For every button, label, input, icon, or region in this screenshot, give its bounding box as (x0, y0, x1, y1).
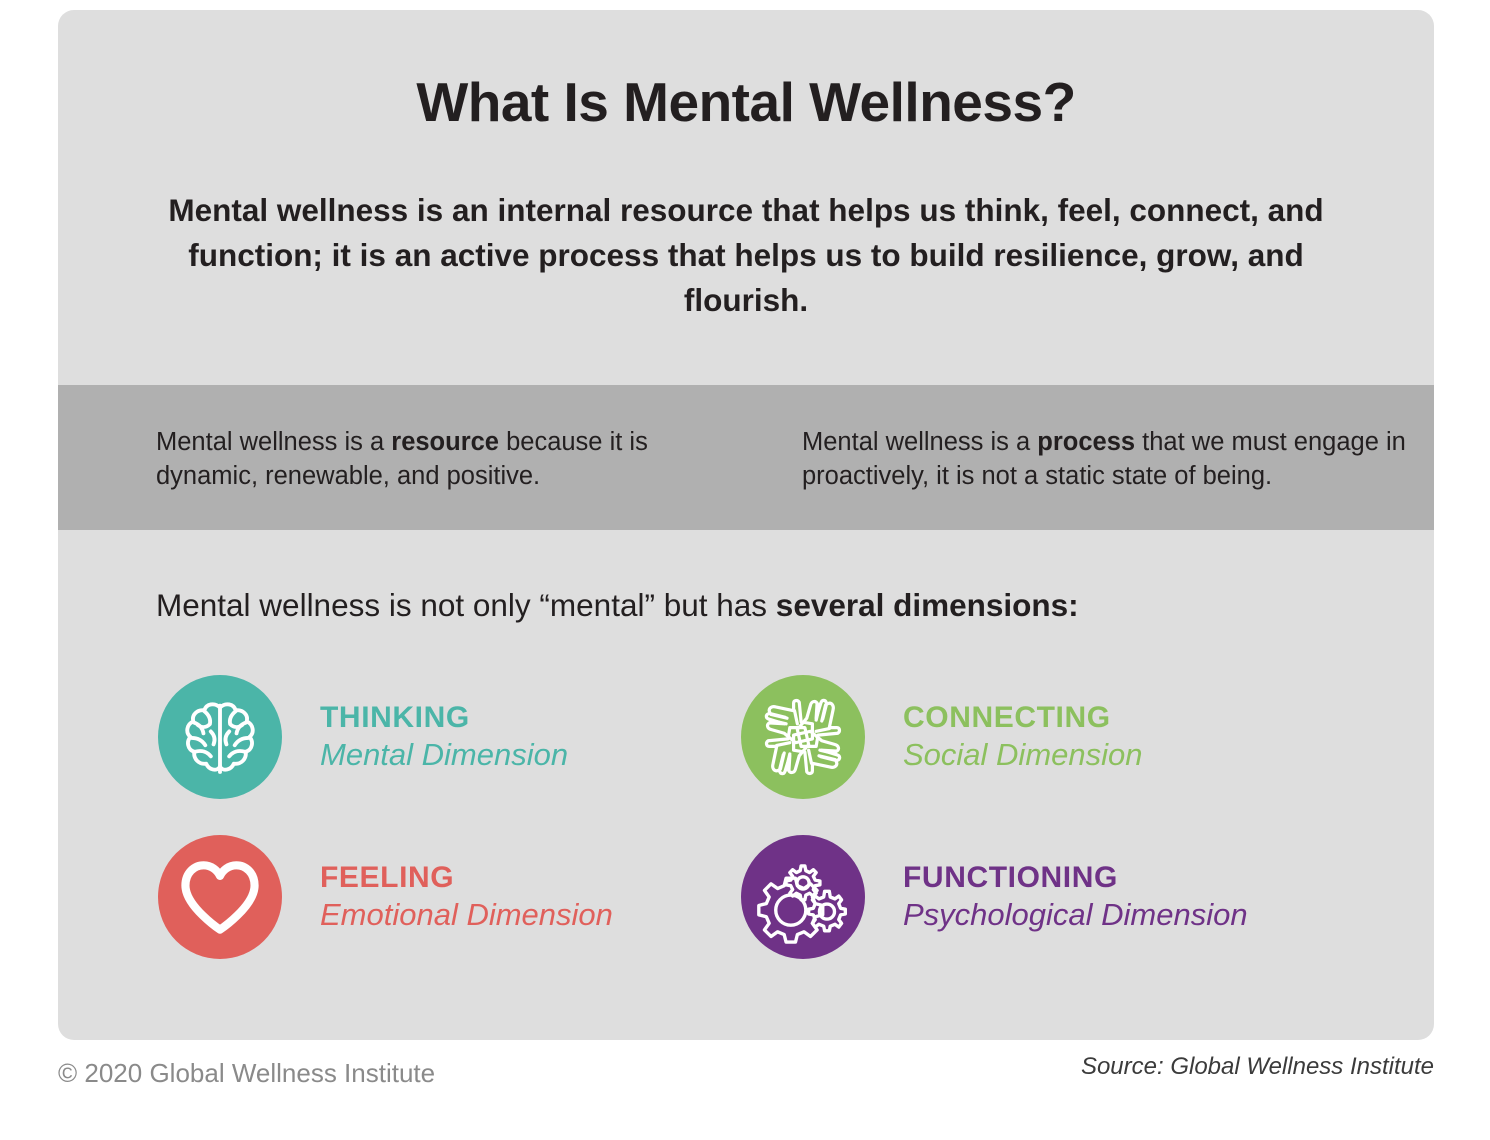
infographic-card: What Is Mental Wellness? Mental wellness… (58, 10, 1434, 1040)
dimension-thinking-subtitle: Mental Dimension (320, 739, 568, 772)
dimension-feeling-subtitle: Emotional Dimension (320, 899, 613, 932)
dimensions-heading-strong: several dimensions: (776, 587, 1079, 623)
dimension-thinking-text: THINKING Mental Dimension (320, 702, 568, 773)
brain-icon-circle (158, 675, 282, 799)
definition-band: Mental wellness is a resource because it… (58, 385, 1434, 530)
dimensions-heading: Mental wellness is not only “mental” but… (156, 587, 1079, 624)
resource-text-pre: Mental wellness is a (156, 428, 391, 456)
brain-icon (174, 691, 266, 783)
dimensions-row-2: FEELING Emotional Dimension (158, 835, 1418, 959)
dimension-connecting-label: CONNECTING (903, 702, 1143, 734)
dimension-thinking: THINKING Mental Dimension (158, 675, 741, 799)
dimension-feeling-label: FEELING (320, 862, 613, 894)
dimension-functioning: FUNCTIONING Psychological Dimension (741, 835, 1361, 959)
resource-keyword: resource (391, 428, 499, 456)
dimension-connecting-subtitle: Social Dimension (903, 739, 1143, 772)
dimension-feeling-text: FEELING Emotional Dimension (320, 862, 613, 933)
dimension-functioning-subtitle: Psychological Dimension (903, 899, 1248, 932)
heart-icon-circle (158, 835, 282, 959)
page-title: What Is Mental Wellness? (58, 70, 1434, 134)
definition-process: Mental wellness is a process that we mus… (750, 385, 1434, 530)
copyright-text: © 2020 Global Wellness Institute (58, 1058, 435, 1089)
four-hands-icon-circle (741, 675, 865, 799)
dimensions-grid: THINKING Mental Dimension (158, 675, 1418, 959)
definition-resource: Mental wellness is a resource because it… (58, 385, 750, 530)
dimension-feeling: FEELING Emotional Dimension (158, 835, 741, 959)
dimension-functioning-label: FUNCTIONING (903, 862, 1248, 894)
four-hands-icon (756, 690, 850, 784)
dimension-functioning-text: FUNCTIONING Psychological Dimension (903, 862, 1248, 933)
dimensions-row-1: THINKING Mental Dimension (158, 675, 1418, 799)
source-text: Source: Global Wellness Institute (1081, 1053, 1434, 1081)
process-keyword: process (1037, 428, 1135, 456)
intro-paragraph: Mental wellness is an internal resource … (148, 188, 1344, 323)
heart-icon (172, 849, 268, 945)
process-text-pre: Mental wellness is a (802, 428, 1037, 456)
gears-icon-circle (741, 835, 865, 959)
dimension-connecting: CONNECTING Social Dimension (741, 675, 1361, 799)
dimension-connecting-text: CONNECTING Social Dimension (903, 702, 1143, 773)
dimension-thinking-label: THINKING (320, 702, 568, 734)
dimensions-heading-pre: Mental wellness is not only “mental” but… (156, 587, 776, 623)
gears-icon (756, 850, 850, 944)
